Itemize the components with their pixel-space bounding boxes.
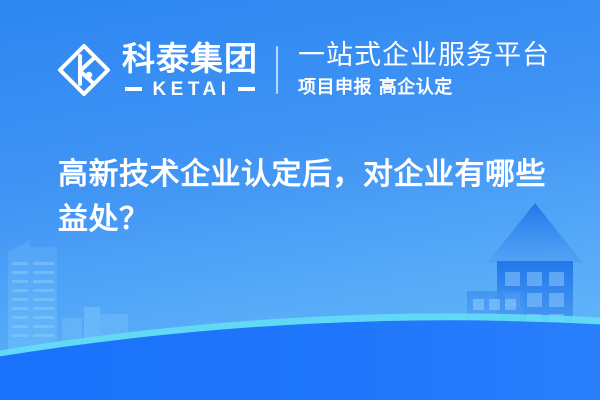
logo-dash-left [125, 87, 142, 91]
promo-banner: 科泰集团 KETAI 一站式企业服务平台 项目申报 高企认定 高新技术企业认定后… [0, 0, 600, 400]
tagline-block: 一站式企业服务平台 项目申报 高企认定 [298, 41, 550, 98]
brand-logo[interactable]: 科泰集团 KETAI [56, 42, 258, 99]
left-low-block-shape [62, 307, 128, 354]
right-low-block-shape [467, 291, 524, 358]
logo-dash-right [238, 87, 255, 91]
ketai-diamond-monogram-icon [56, 42, 112, 98]
brand-name-en: KETAI [142, 80, 237, 99]
tagline-main: 一站式企业服务平台 [298, 41, 550, 71]
brand-name-cn: 科泰集团 [122, 42, 258, 75]
page-title: 高新技术企业认定后，对企业有哪些益处？ [58, 152, 558, 242]
tagline-sub: 项目申报 高企认定 [298, 77, 550, 99]
left-skyscraper-shape [8, 240, 57, 352]
header-divider [276, 46, 278, 94]
banner-header: 科泰集团 KETAI 一站式企业服务平台 项目申报 高企认定 [0, 0, 600, 140]
